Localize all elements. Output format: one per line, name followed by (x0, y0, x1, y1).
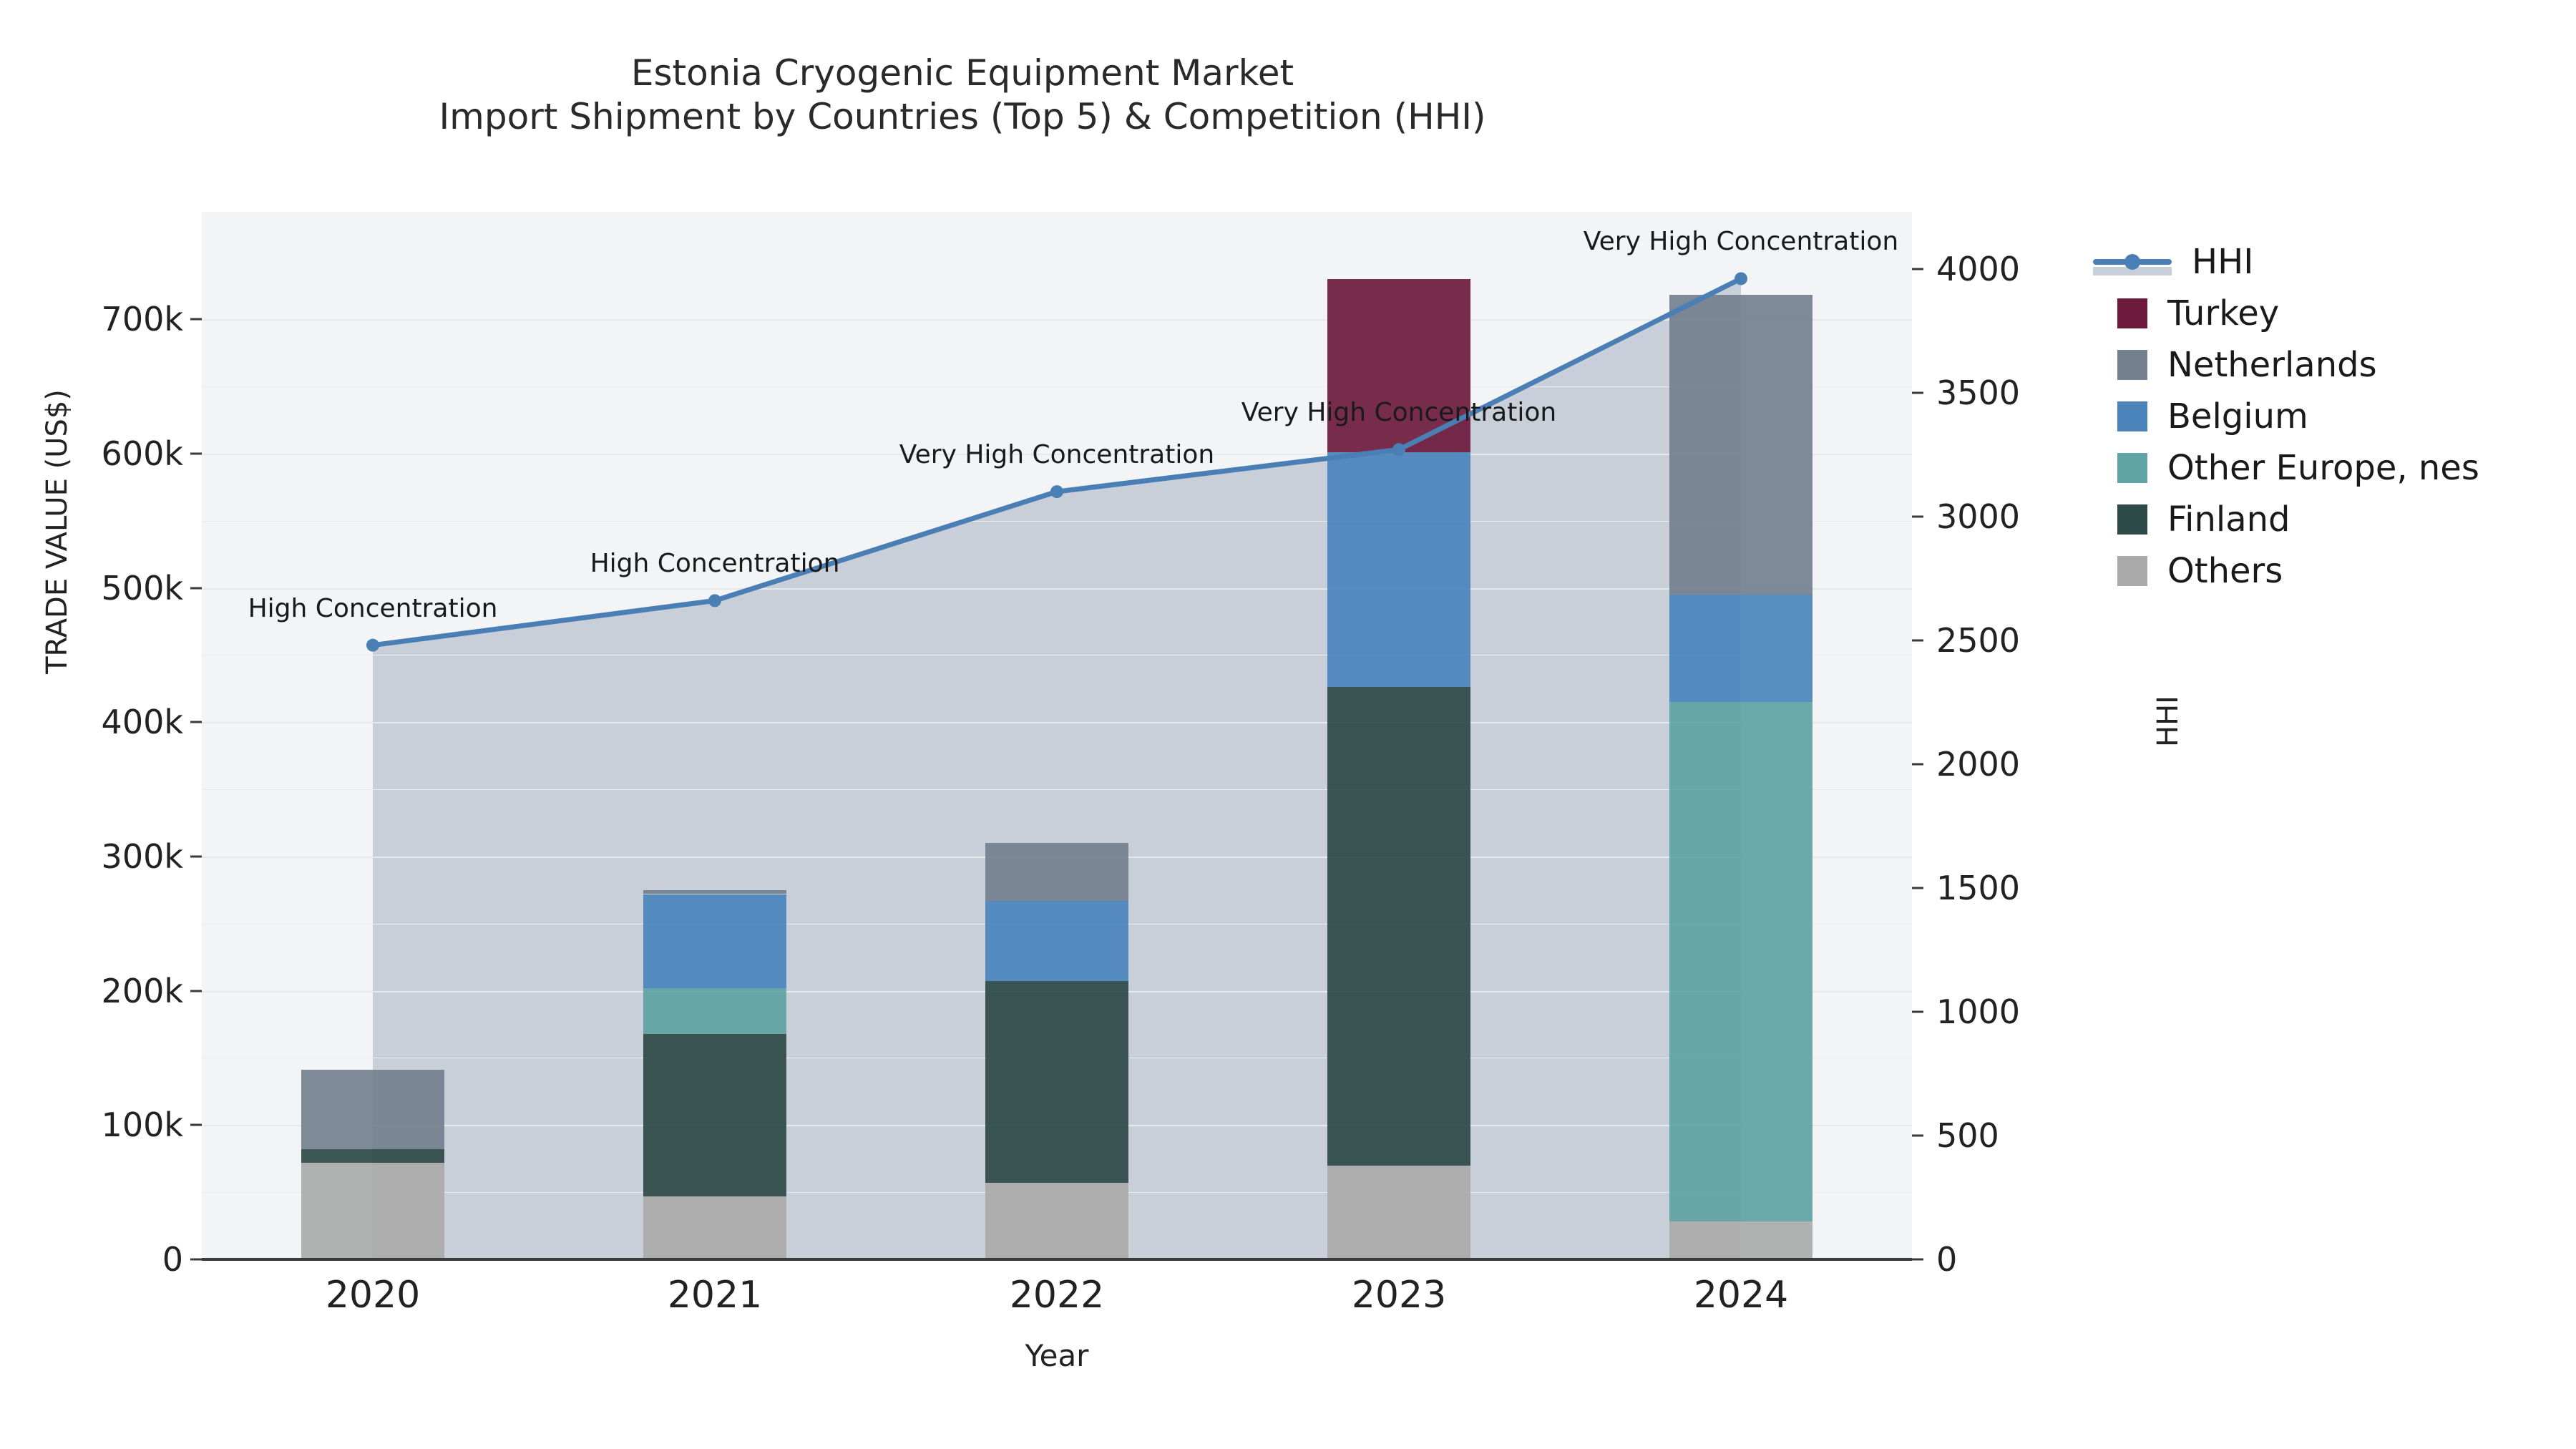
y-tick-left-100k: 100k (102, 1106, 183, 1144)
y-tick-mark-left (190, 990, 202, 992)
legend-line-marker (2124, 254, 2140, 270)
x-tick-2024: 2024 (1694, 1274, 1788, 1317)
y-tick-left-0: 0 (162, 1240, 183, 1279)
color-swatch-icon (2117, 453, 2147, 483)
y-tick-mark-left (190, 721, 202, 723)
y-tick-left-600k: 600k (102, 434, 183, 473)
y-tick-right-1500: 1500 (1936, 869, 2020, 907)
legend-item-netherlands[interactable]: Netherlands (2093, 339, 2565, 391)
annotation-2024: Very High Concentration (1584, 227, 1898, 256)
color-swatch-icon (2117, 504, 2147, 535)
y-tick-right-1000: 1000 (1936, 992, 2020, 1031)
legend-item-other-europe-nes[interactable]: Other Europe, nes (2093, 442, 2565, 494)
y-tick-mark-right (1912, 887, 1923, 889)
legend-label: Belgium (2167, 399, 2308, 434)
y-tick-mark-left (190, 1259, 202, 1261)
y-tick-right-2500: 2500 (1936, 621, 2020, 660)
chart-title: Estonia Cryogenic Equipment Market Impor… (0, 52, 1925, 139)
y-tick-left-300k: 300k (102, 837, 183, 876)
chart-figure: Estonia Cryogenic Equipment Market Impor… (0, 0, 2576, 1449)
hhi-marker-2020[interactable] (366, 639, 379, 652)
color-swatch-icon (2117, 401, 2147, 431)
y-tick-mark-left (190, 318, 202, 321)
color-swatch-icon (2117, 350, 2147, 380)
legend-label: Other Europe, nes (2167, 451, 2479, 485)
legend-label: HHI (2192, 245, 2253, 279)
legend-item-hhi[interactable]: HHI (2093, 236, 2565, 288)
legend-item-turkey[interactable]: Turkey (2093, 288, 2565, 339)
x-axis-label: Year (202, 1338, 1912, 1373)
y-tick-mark-right (1912, 268, 1923, 270)
y-tick-right-2000: 2000 (1936, 745, 2020, 784)
line-marker-icon (2093, 247, 2172, 277)
y-tick-left-700k: 700k (102, 300, 183, 338)
y-tick-mark-right (1912, 1259, 1923, 1261)
legend-item-others[interactable]: Others (2093, 545, 2565, 597)
legend-label: Others (2167, 554, 2283, 588)
y-axis-left-label: TRADE VALUE (US$) (41, 260, 74, 804)
chart-title-line-2: Import Shipment by Countries (Top 5) & C… (0, 95, 1925, 139)
y-tick-mark-left (190, 855, 202, 857)
y-tick-right-0: 0 (1936, 1240, 1957, 1279)
hhi-marker-2022[interactable] (1050, 485, 1063, 498)
y-tick-left-400k: 400k (102, 703, 183, 741)
y-axis-right-label: HHI (2152, 614, 2185, 829)
y-tick-mark-left (190, 452, 202, 454)
x-tick-2020: 2020 (326, 1274, 420, 1317)
y-axis-left: 0100k200k300k400k500k600k700k (0, 212, 202, 1259)
hhi-marker-2021[interactable] (708, 594, 721, 607)
legend-label: Turkey (2167, 296, 2279, 331)
y-tick-mark-left (190, 587, 202, 589)
y-tick-mark-right (1912, 1010, 1923, 1013)
x-axis-line (202, 1258, 1912, 1261)
y-tick-mark-right (1912, 391, 1923, 394)
y-tick-mark-left (190, 1124, 202, 1126)
annotation-2020: High Concentration (248, 594, 498, 623)
color-swatch-icon (2117, 298, 2147, 328)
legend-item-finland[interactable]: Finland (2093, 494, 2565, 545)
color-swatch-icon (2117, 556, 2147, 586)
plot-area (202, 212, 1912, 1259)
y-tick-mark-right (1912, 763, 1923, 765)
hhi-marker-2023[interactable] (1392, 443, 1405, 456)
chart-title-line-1: Estonia Cryogenic Equipment Market (0, 52, 1925, 95)
y-tick-mark-right (1912, 639, 1923, 641)
annotation-2021: High Concentration (590, 549, 840, 578)
y-tick-left-200k: 200k (102, 972, 183, 1010)
y-tick-right-4000: 4000 (1936, 250, 2020, 288)
y-tick-mark-right (1912, 515, 1923, 517)
x-tick-2021: 2021 (668, 1274, 762, 1317)
y-tick-right-3000: 3000 (1936, 497, 2020, 536)
annotation-2022: Very High Concentration (899, 440, 1214, 469)
annotation-2023: Very High Concentration (1241, 398, 1556, 427)
x-tick-2022: 2022 (1010, 1274, 1104, 1317)
hhi-marker-2024[interactable] (1735, 272, 1747, 285)
chart-legend: HHITurkeyNetherlandsBelgiumOther Europe,… (2093, 236, 2565, 597)
hhi-line-overlay (202, 212, 1912, 1259)
x-tick-2023: 2023 (1352, 1274, 1446, 1317)
y-tick-right-3500: 3500 (1936, 374, 2020, 412)
y-tick-right-500: 500 (1936, 1116, 1999, 1155)
y-tick-mark-right (1912, 1134, 1923, 1136)
legend-label: Finland (2167, 502, 2290, 537)
legend-item-belgium[interactable]: Belgium (2093, 391, 2565, 442)
y-tick-left-500k: 500k (102, 569, 183, 608)
legend-label: Netherlands (2167, 348, 2377, 382)
